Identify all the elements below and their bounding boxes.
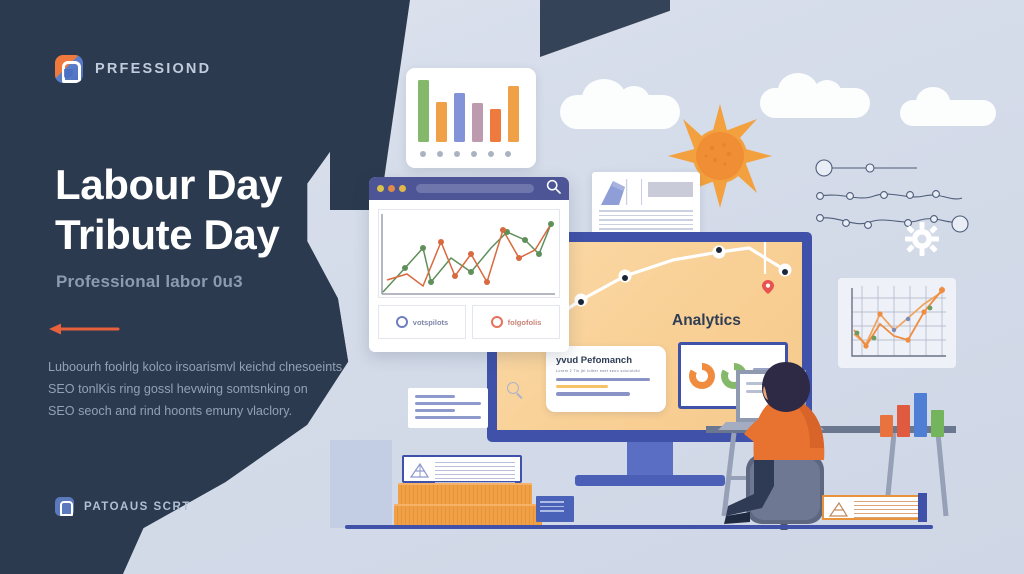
- browser-dot-3[interactable]: [399, 185, 406, 192]
- headline-line-2: Tribute Day: [55, 210, 282, 260]
- body-copy-line-3: SEO seoch and rind hoonts emuny vlaclory…: [48, 400, 358, 422]
- body-copy: Luboourh foolrlg kolco irsoarismvl keich…: [48, 356, 358, 422]
- performance-card-subtext: Lorem 2 Tlo jbl tolber eset seuo soloiot…: [556, 369, 656, 373]
- performance-card-title: yvud Pefomanch: [556, 355, 656, 366]
- browser-url-input[interactable]: [416, 184, 534, 193]
- banner-canvas: Analytics yvud Pefomanch Lorem 2 Tlo jbl…: [0, 0, 1024, 574]
- ring-icon-orange: [491, 316, 503, 328]
- bar-chart-card: [406, 68, 536, 168]
- browser-dot-2[interactable]: [388, 185, 395, 192]
- stat-card-1[interactable]: votspilots: [378, 305, 466, 339]
- brand-logo[interactable]: PRFESSIOND: [55, 55, 211, 83]
- cloud-icon: [560, 95, 680, 129]
- browser-dot-1[interactable]: [377, 185, 384, 192]
- browser-line-chart: [378, 209, 560, 298]
- bar-chart-axis-dots: [418, 151, 524, 157]
- desk-bar-chart: [880, 393, 944, 437]
- body-copy-line-1: Luboourh foolrlg kolco irsoarismvl keich…: [48, 356, 358, 378]
- document-card: [408, 388, 488, 428]
- logo-p-icon: [55, 55, 83, 83]
- book-stack-item: [398, 483, 532, 504]
- floor-line: [345, 525, 933, 529]
- analytics-screen-label: Analytics: [672, 312, 741, 330]
- book-document-top: [402, 455, 522, 483]
- book-stack-item: [394, 504, 542, 527]
- cloud-icon: [760, 88, 870, 118]
- browser-window[interactable]: votspilots folgofolis: [369, 177, 569, 352]
- browser-stat-row: votspilots folgofolis: [378, 305, 560, 339]
- document-thumbnail-icon: [828, 500, 850, 518]
- bar-chart-bars: [418, 80, 524, 142]
- map-pin-icon: [762, 280, 772, 294]
- stat-card-2-label: folgofolis: [508, 318, 542, 327]
- monitor-stand: [627, 440, 673, 478]
- node-connector-line-icon: [812, 152, 972, 238]
- article-preview-card: [592, 172, 700, 240]
- performance-card-bars: [556, 378, 656, 396]
- document-text-lines: [435, 461, 515, 477]
- body-copy-line-2: SEO tonlKis ring gossl hevwing somtsnkin…: [48, 378, 358, 400]
- browser-titlebar: [369, 177, 569, 200]
- article-text-lines: [599, 210, 693, 230]
- gear-icon: [905, 222, 939, 256]
- book-document-right: [822, 495, 924, 520]
- background-slab: [330, 440, 392, 528]
- cloud-icon: [900, 100, 996, 126]
- book-spine: [918, 493, 927, 522]
- headline-line-1: Labour Day: [55, 160, 282, 210]
- blue-book: [536, 496, 574, 522]
- ring-icon-blue: [396, 316, 408, 328]
- footer-logo-icon: [55, 497, 74, 516]
- magnifier-icon: [507, 382, 519, 394]
- logo-text: PRFESSIOND: [95, 61, 211, 77]
- footer-text: PATOAUS SCRT: [84, 501, 191, 513]
- document-thumbnail-icon: [409, 461, 431, 479]
- article-image-placeholder: [599, 179, 635, 205]
- page-title: Labour Day Tribute Day: [55, 160, 282, 259]
- stat-card-2[interactable]: folgofolis: [472, 305, 560, 339]
- stat-card-1-label: votspilots: [413, 318, 448, 327]
- article-headline-block: [648, 182, 693, 197]
- performance-card: yvud Pefomanch Lorem 2 Tlo jbl tolber es…: [546, 346, 666, 412]
- search-icon[interactable]: [546, 179, 561, 199]
- page-subtitle: Professional labor 0u3: [56, 272, 243, 292]
- monitor-base: [575, 475, 725, 486]
- document-text-lines: [854, 500, 918, 515]
- arrow-left-icon: [48, 322, 120, 336]
- footer-brand[interactable]: PATOAUS SCRT: [55, 497, 191, 516]
